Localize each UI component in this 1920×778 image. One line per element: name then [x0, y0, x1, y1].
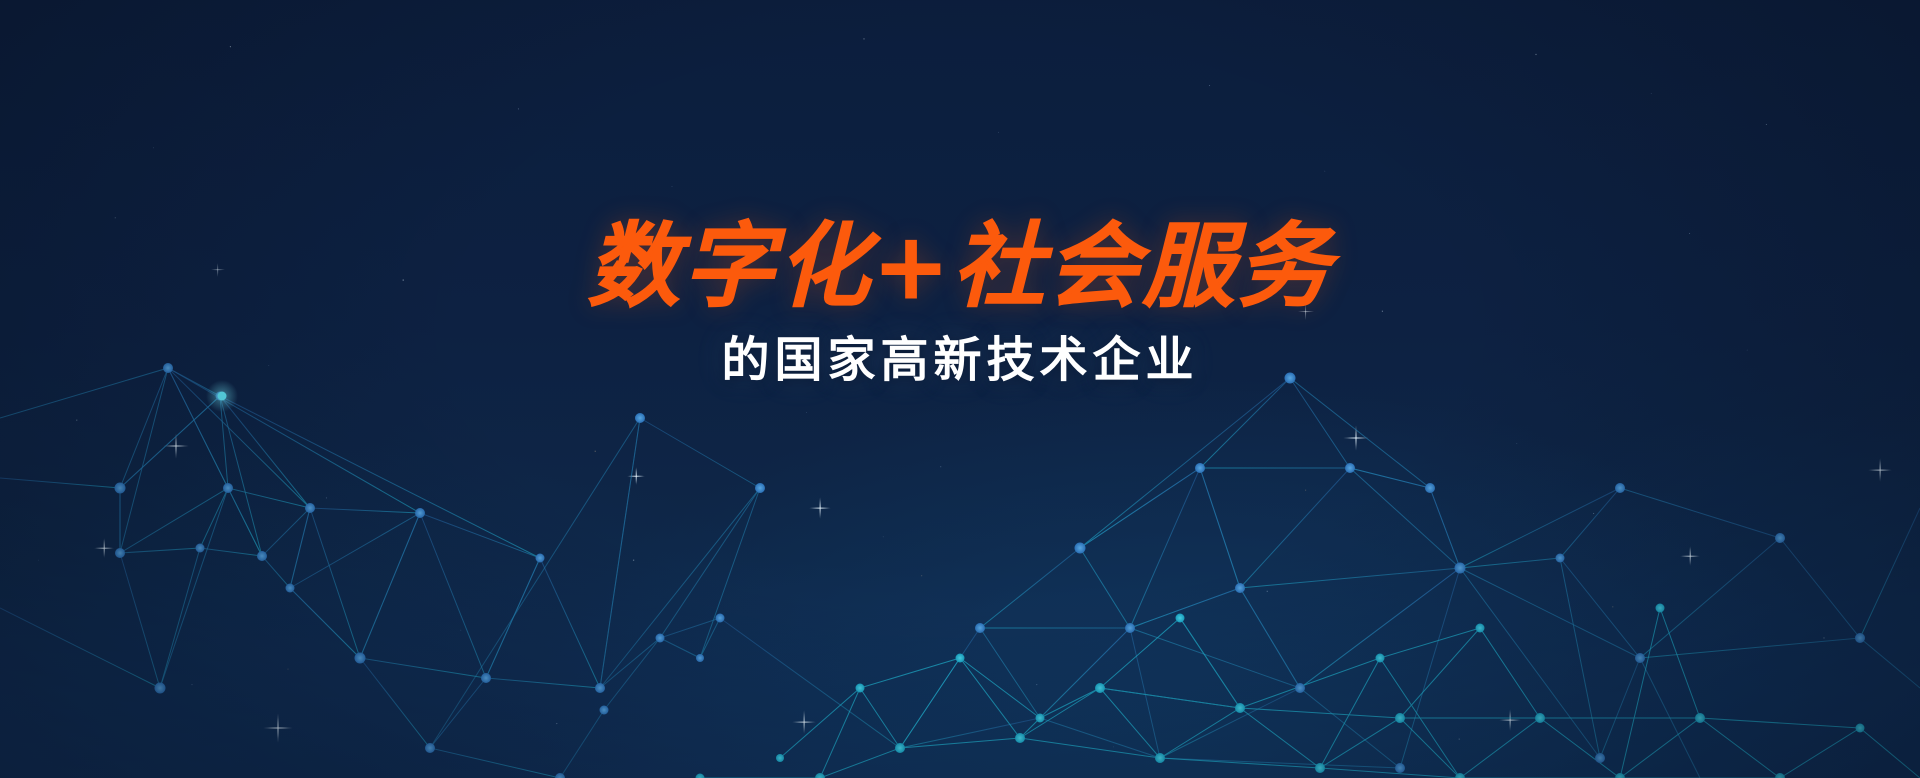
banner-stage: 数字化+社会服务 的国家高新技术企业 [0, 0, 1920, 778]
network-mesh-graphic [0, 358, 1920, 778]
banner-headline: 数字化+社会服务 [0, 218, 1920, 316]
banner-text-block: 数字化+社会服务 的国家高新技术企业 [0, 218, 1920, 389]
banner-subtitle: 的国家高新技术企业 [0, 332, 1920, 390]
